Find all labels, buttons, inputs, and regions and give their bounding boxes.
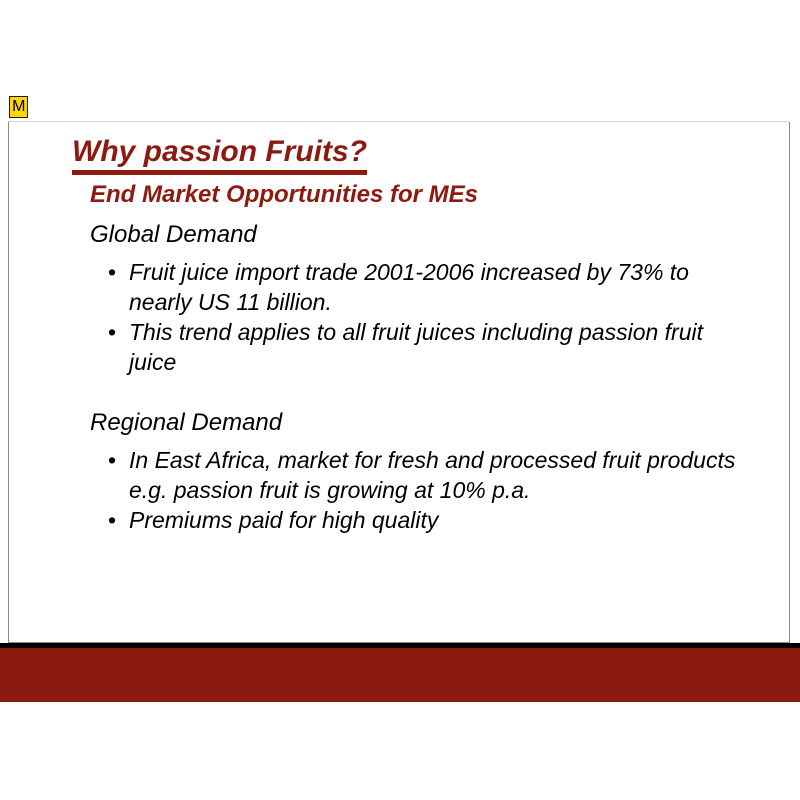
spacer bbox=[8, 377, 790, 407]
section-heading-regional-demand: Regional Demand bbox=[90, 407, 790, 439]
slide-content: Why passion Fruits? End Market Opportuni… bbox=[8, 123, 790, 643]
page-subtitle: End Market Opportunities for MEs bbox=[90, 180, 478, 209]
bullet-dot-icon: • bbox=[108, 257, 116, 287]
bullet-dot-icon: • bbox=[108, 505, 116, 535]
list-item-text: Fruit juice import trade 2001-2006 incre… bbox=[129, 259, 689, 315]
list-item: • This trend applies to all fruit juices… bbox=[108, 317, 737, 377]
marker-badge-m[interactable]: M bbox=[9, 96, 28, 118]
bullet-list-global-demand: • Fruit juice import trade 2001-2006 inc… bbox=[8, 257, 790, 377]
list-item-text: This trend applies to all fruit juices i… bbox=[129, 319, 703, 375]
footer-red-band bbox=[0, 648, 800, 702]
list-item: • In East Africa, market for fresh and p… bbox=[108, 445, 737, 505]
list-item-text: In East Africa, market for fresh and pro… bbox=[129, 447, 735, 503]
slide-root: M Why passion Fruits? End Market Opportu… bbox=[0, 0, 800, 800]
list-item-text: Premiums paid for high quality bbox=[129, 507, 438, 533]
page-title: Why passion Fruits? bbox=[72, 135, 367, 175]
list-item: • Fruit juice import trade 2001-2006 inc… bbox=[108, 257, 737, 317]
slide-body: Global Demand • Fruit juice import trade… bbox=[8, 219, 790, 535]
slide-top-strip bbox=[8, 93, 790, 122]
list-item: • Premiums paid for high quality bbox=[108, 505, 737, 535]
bullet-dot-icon: • bbox=[108, 445, 116, 475]
bullet-dot-icon: • bbox=[108, 317, 116, 347]
section-heading-global-demand: Global Demand bbox=[90, 219, 790, 251]
bullet-list-regional-demand: • In East Africa, market for fresh and p… bbox=[8, 445, 790, 535]
